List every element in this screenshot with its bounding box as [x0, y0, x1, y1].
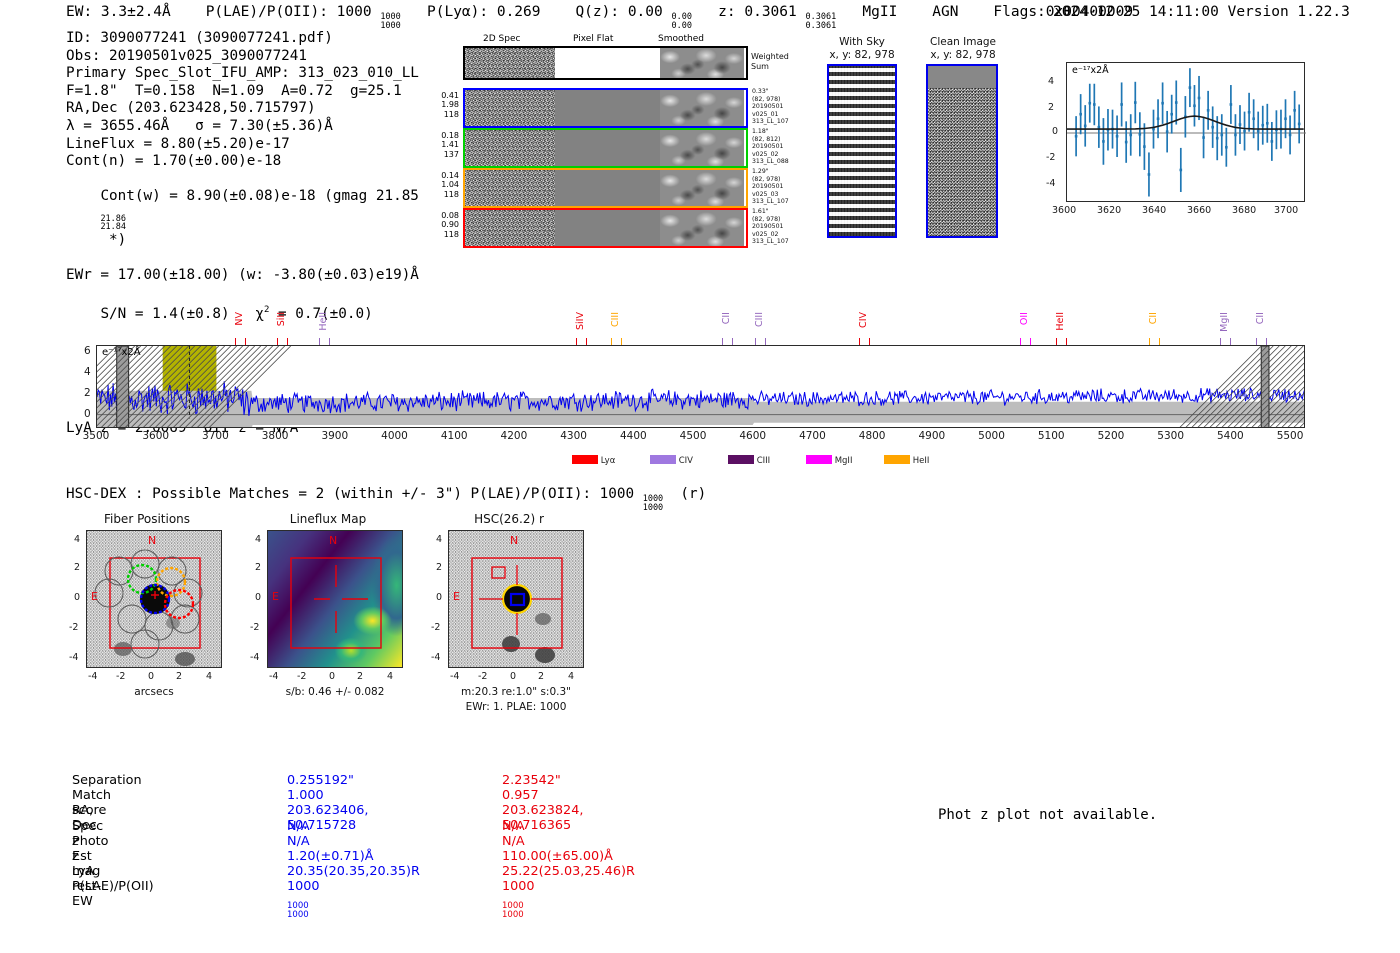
line-fit-ytick: 0 [1052, 126, 1058, 137]
fiber-positions-title: Fiber Positions [62, 512, 232, 526]
lineflux-ytick: 4 [255, 534, 261, 545]
line-fit-ytick: 2 [1048, 102, 1054, 113]
legend-swatch [806, 455, 832, 464]
line-fit-xtick: 3640 [1142, 205, 1166, 216]
fiber-ytick: 4 [74, 534, 80, 545]
spectrum-ytick: 0 [84, 408, 91, 420]
line-fit-ytick: -2 [1046, 152, 1055, 163]
row-smoothed-image [660, 90, 744, 126]
row-match2-value: 2.23542" [502, 773, 561, 788]
hsc-r-ytick: 4 [436, 534, 442, 545]
spec2d-panel-group: 2D Spec Pixel Flat Smoothed Weighted Sum… [463, 34, 753, 249]
hsc-r-compass-n: N [510, 534, 518, 547]
with-sky-title: With Sky [823, 36, 901, 48]
emission-line-label: SiIV [575, 312, 586, 330]
legend-swatch [572, 455, 598, 464]
line-fit-xtick: 3660 [1187, 205, 1211, 216]
row-2dspec-image [465, 170, 555, 206]
hsc-r-xlabel: m:20.3 re:1.0" s:0.3" [428, 686, 604, 698]
line-fit-units-label: e⁻¹⁷x2Å [1072, 65, 1109, 76]
lineflux-map-panel: Lineflux Map N E 4 2 0 -2 -4 -4 -2 0 2 4… [243, 512, 413, 712]
lineflux-map-title: Lineflux Map [243, 512, 413, 526]
line-fit-plot-area [1066, 62, 1305, 202]
line-fit-xtick: 3700 [1274, 205, 1298, 216]
spectrum-xtick: 3500 [80, 430, 112, 442]
row-right-meta: 1.29" (82, 978) 20190501 v025_03 313_LL_… [752, 168, 789, 206]
lineflux-map-svg [268, 531, 403, 668]
spectrum-xtick: 4500 [677, 430, 709, 442]
emission-line-label: CIII [754, 312, 765, 327]
row-match1-value: N/A [287, 834, 310, 849]
spectrum-xtick: 3700 [199, 430, 231, 442]
header-plae: P(LAE)/P(OII): 1000 [206, 4, 372, 20]
emission-line-label: HeII [318, 312, 329, 331]
spectrum-ytick: 6 [84, 345, 91, 357]
spectrum-xtick: 4900 [916, 430, 948, 442]
row-right-meta: 1.18" (82, 812) 20190501 v025_02 313_LL_… [752, 128, 789, 166]
hsc-r-ytick: 2 [436, 562, 442, 573]
hsc-heading-plae-range: 1000 1000 [643, 495, 663, 512]
weighted-sum-smoothed-image [660, 48, 744, 78]
emission-line-label: CII [1148, 312, 1159, 324]
row-label: Separation [72, 773, 142, 788]
lineflux-xtick: 4 [387, 671, 393, 682]
lineflux-xtick: -4 [269, 671, 278, 682]
row-match1-value: 0.255192" [287, 773, 354, 788]
spectrum-xtick: 3900 [319, 430, 351, 442]
fiber-positions-image [86, 530, 222, 668]
fiber-positions-panel: Fiber Positions N E 4 2 0 -2 -4 -4 -2 0 … [62, 512, 232, 712]
spec2d-col-title-2dspec: 2D Spec [483, 34, 520, 44]
spectrum-xtick: 4400 [617, 430, 649, 442]
fiber-xtick: -4 [88, 671, 97, 682]
info-gmag-range: 21.86 21.84 [100, 215, 126, 232]
header-qz-range: 0.00 0.00 [671, 13, 691, 30]
row-smoothed-image [660, 130, 744, 166]
emission-line-label: NV [234, 312, 245, 326]
hsc-r-panel: HSC(26.2) r N E 4 2 0 -2 -4 -4 -2 0 2 4 … [424, 512, 594, 727]
header-qz: Q(z): 0.00 [575, 4, 662, 20]
spectrum-plot-area [96, 345, 1305, 428]
spectrum-xtick: 5200 [1095, 430, 1127, 442]
weighted-sum-label: Weighted Sum [751, 52, 789, 71]
row-match2-value: 25.22(25.03,25.46)R [502, 864, 635, 879]
hsc-r-xtick: -4 [450, 671, 459, 682]
info-ewr: EWr = 17.00(±18.00) (w: -3.80(±0.03)e19)… [66, 267, 419, 285]
legend-label: HeII [910, 456, 929, 466]
hsc-r-xtick: -2 [478, 671, 487, 682]
fiber-xlabel: arcsecs [86, 686, 222, 698]
row-2dspec-image [465, 130, 555, 166]
legend-item: HeII [884, 448, 929, 467]
hsc-r-title: HSC(26.2) r [424, 512, 594, 526]
hsc-r-image [448, 530, 584, 668]
header-plya: P(Lyα): 0.269 [427, 4, 541, 20]
legend-label: Lyα [598, 456, 615, 466]
spectrum-xtick: 5400 [1214, 430, 1246, 442]
lineflux-map-image [267, 530, 403, 668]
legend-label: MgII [832, 456, 852, 466]
spec2d-col-title-smoothed: Smoothed [658, 34, 704, 44]
weighted-sum-pixelflat-image [555, 48, 660, 78]
emission-line-label: CII [1255, 312, 1266, 324]
row-pixelflat-image [555, 210, 660, 246]
spec2d-row [463, 168, 748, 208]
row-left-stats: 0.18 1.41 137 [429, 131, 459, 159]
legend-item: CIV [650, 448, 693, 467]
full-spectrum-chart: NVSiIIHeIISiIVCIIICIICIIICIVOIIHeIICIIMg… [60, 312, 1320, 462]
line-fit-inset-chart: e⁻¹⁷x2Å 4 2 0 -2 -4 3600 3620 3640 3660 … [1040, 62, 1305, 222]
spectrum-svg [97, 346, 1305, 428]
row-pixelflat-image [555, 90, 660, 126]
row-left-stats: 0.41 1.98 118 [429, 91, 459, 119]
legend-swatch [650, 455, 676, 464]
fiber-xtick: 2 [176, 671, 182, 682]
clean-image-image [926, 64, 998, 238]
emission-line-label: CIV [858, 312, 869, 328]
clean-image-masked-top [928, 66, 996, 88]
timestamp-version: 2024-12-25 14:11:00 Version 1.22.3 [1053, 4, 1350, 20]
weighted-sum-2dspec-image [465, 48, 555, 78]
spectrum-xtick: 4600 [737, 430, 769, 442]
with-sky-panel: With Sky x, y: 82, 978 [823, 36, 901, 242]
legend-label: CIII [754, 456, 770, 466]
lineflux-compass-n: N [329, 534, 337, 547]
line-fit-xtick: 3620 [1097, 205, 1121, 216]
header-line-id: MgII [862, 4, 897, 20]
lineflux-compass-e: E [272, 590, 279, 603]
row-match2-value: 0.957 [502, 788, 539, 803]
lineflux-xtick: 0 [329, 671, 335, 682]
info-seeing-params: F=1.8" T=0.158 N=1.09 A=0.72 g=25.1 [66, 83, 419, 101]
row-2dspec-image [465, 90, 555, 126]
hsc-r-xtick: 0 [510, 671, 516, 682]
row-pixelflat-image [555, 170, 660, 206]
lineflux-ytick: 2 [255, 562, 261, 573]
lineflux-ytick: -4 [250, 652, 259, 663]
header-summary-line: EW: 3.3±2.4Å P(LAE)/P(OII): 1000 1000 10… [66, 4, 1133, 30]
fiber-xtick: 0 [148, 671, 154, 682]
info-obs: Obs: 20190501v025_3090077241 [66, 48, 419, 66]
header-ew: EW: 3.3±2.4Å [66, 4, 171, 20]
fiber-compass-e: E [91, 590, 98, 603]
spectrum-xtick: 5100 [1035, 430, 1067, 442]
spectrum-xtick-row: 3500360037003800390040004100420043004400… [60, 430, 1320, 446]
fiber-xtick: -2 [116, 671, 125, 682]
hsc-dex-heading: HSC-DEX : Possible Matches = 2 (within +… [66, 486, 706, 512]
line-fit-ytick: -4 [1046, 178, 1055, 189]
spec2d-exposure-rows: 0.41 1.98 118 0.33" (82, 978) 20190501 v… [463, 88, 748, 248]
spectrum-xtick: 5300 [1155, 430, 1187, 442]
emission-line-label: OII [1019, 312, 1030, 325]
spectrum-xtick: 4700 [796, 430, 828, 442]
lineflux-xtick: 2 [357, 671, 363, 682]
info-id: ID: 3090077241 (3090077241.pdf) [66, 30, 419, 48]
legend-item: MgII [806, 448, 852, 467]
row-match2-value: N/A [502, 819, 525, 834]
info-primary-slot: Primary Spec_Slot_IFU_AMP: 313_023_010_L… [66, 65, 419, 83]
fiber-ytick: 0 [74, 592, 80, 603]
emission-line-label-row: NVSiIIHeIISiIVCIIICIICIIICIVOIIHeIICIIMg… [60, 312, 1320, 346]
with-sky-subtitle: x, y: 82, 978 [823, 49, 901, 61]
row-2dspec-image [465, 210, 555, 246]
header-z: z: 0.3061 [718, 4, 797, 20]
spectrum-ytick: 2 [84, 387, 91, 399]
row-right-meta: 1.61" (82, 978) 20190501 v025_02 313_LL_… [752, 208, 789, 246]
row-label: mag [72, 864, 100, 879]
row-match2-value: 100010001000 [502, 879, 535, 919]
info-cont-w: Cont(w) = 8.90(±0.08)e-18 (gmag 21.85 21… [66, 171, 419, 267]
hsc-r-xlabel2: EWr: 1. PLAE: 1000 [428, 701, 604, 713]
spectrum-xtick: 4800 [856, 430, 888, 442]
clean-image-subtitle: x, y: 82, 978 [922, 49, 1004, 61]
line-fit-xtick: 3600 [1052, 205, 1076, 216]
clean-image-panel: Clean Image x, y: 82, 978 [922, 36, 1004, 242]
row-match1-value: 100010001000 [287, 879, 320, 919]
row-smoothed-image [660, 210, 744, 246]
line-fit-ytick: 4 [1048, 76, 1054, 87]
hsc-r-xtick: 4 [568, 671, 574, 682]
emission-line-label: MgII [1219, 312, 1230, 332]
hsc-r-svg [449, 531, 584, 668]
spectrum-ytick: 4 [84, 366, 91, 378]
row-match2-value: 110.00(±65.00)Å [502, 849, 613, 864]
spectrum-xtick: 4200 [498, 430, 530, 442]
legend-label: CIV [676, 456, 693, 466]
fiber-positions-svg [87, 531, 222, 668]
info-lambda-sigma: λ = 3655.46Å σ = 7.30(±5.36)Å [66, 118, 419, 136]
info-cont-n: Cont(n) = 1.70(±0.00)e-18 [66, 153, 419, 171]
row-left-stats: 0.08 0.90 118 [429, 211, 459, 239]
header-agn-flag: AGN [932, 4, 958, 20]
spectrum-xtick: 5500 [1274, 430, 1306, 442]
spectrum-xtick: 3800 [259, 430, 291, 442]
header-z-range: 0.3061 0.3061 [805, 13, 836, 30]
info-lineflux: LineFlux = 8.80(±5.20)e-17 [66, 136, 419, 154]
spec2d-weighted-sum-row [463, 46, 748, 80]
emission-line-label: HeII [1055, 312, 1066, 331]
fiber-compass-n: N [148, 534, 156, 547]
hsc-r-ytick: -4 [431, 652, 440, 663]
line-fit-xtick: 3680 [1232, 205, 1256, 216]
legend-item: Lyα [572, 448, 615, 467]
emission-line-label: CII [721, 312, 732, 324]
row-pixelflat-image [555, 130, 660, 166]
spectrum-xtick: 4300 [558, 430, 590, 442]
plae-range: 10001000 [287, 902, 309, 919]
row-label: P(LAE)/P(OII) [72, 879, 154, 894]
lineflux-xlabel: s/b: 0.46 +/- 0.082 [257, 686, 413, 698]
spec2d-row [463, 128, 748, 168]
emission-line-label: CIII [610, 312, 621, 327]
row-match1-value: 1.20(±0.71)Å [287, 849, 373, 864]
lineflux-ytick: 0 [255, 592, 261, 603]
hsc-r-ytick: -2 [431, 622, 440, 633]
spec2d-row [463, 208, 748, 248]
row-match1-value: N/A [287, 819, 310, 834]
spectrum-xtick: 4000 [379, 430, 411, 442]
fiber-ytick: 2 [74, 562, 80, 573]
emission-line-label: SiII [276, 312, 287, 326]
row-match1-value: 20.35(20.35,20.35)R [287, 864, 420, 879]
fiber-ytick: -2 [69, 622, 78, 633]
spec2d-col-title-pixelflat: Pixel Flat [573, 34, 613, 44]
with-sky-image [827, 64, 897, 238]
legend-item: CIII [728, 448, 770, 467]
fiber-ytick: -4 [69, 652, 78, 663]
row-left-stats: 0.14 1.04 118 [429, 171, 459, 199]
lineflux-xtick: -2 [297, 671, 306, 682]
hsc-r-compass-e: E [453, 590, 460, 603]
spectrum-xtick: 3600 [140, 430, 172, 442]
clean-image-title: Clean Image [922, 36, 1004, 48]
legend-swatch [728, 455, 754, 464]
line-fit-svg [1067, 63, 1306, 203]
spectrum-units-label: e⁻¹⁷x2Å [102, 347, 141, 358]
spectrum-xtick: 4100 [438, 430, 470, 442]
lineflux-ytick: -2 [250, 622, 259, 633]
row-match1-value: 1.000 [287, 788, 324, 803]
header-plae-range: 1000 1000 [380, 13, 400, 30]
info-radec: RA,Dec (203.623428,50.715797) [66, 100, 419, 118]
row-smoothed-image [660, 170, 744, 206]
row-match2-value: N/A [502, 834, 525, 849]
clean-image-data [928, 88, 996, 236]
fiber-xtick: 4 [206, 671, 212, 682]
spectrum-xtick: 5000 [976, 430, 1008, 442]
hsc-r-xtick: 2 [538, 671, 544, 682]
row-right-meta: 0.33" (82, 978) 20190501 v025_01 313_LL_… [752, 88, 789, 126]
legend-swatch [884, 455, 910, 464]
hsc-r-ytick: 0 [436, 592, 442, 603]
photz-note: Phot z plot not available. [938, 807, 1157, 823]
spec2d-row [463, 88, 748, 128]
plae-range: 10001000 [502, 902, 524, 919]
